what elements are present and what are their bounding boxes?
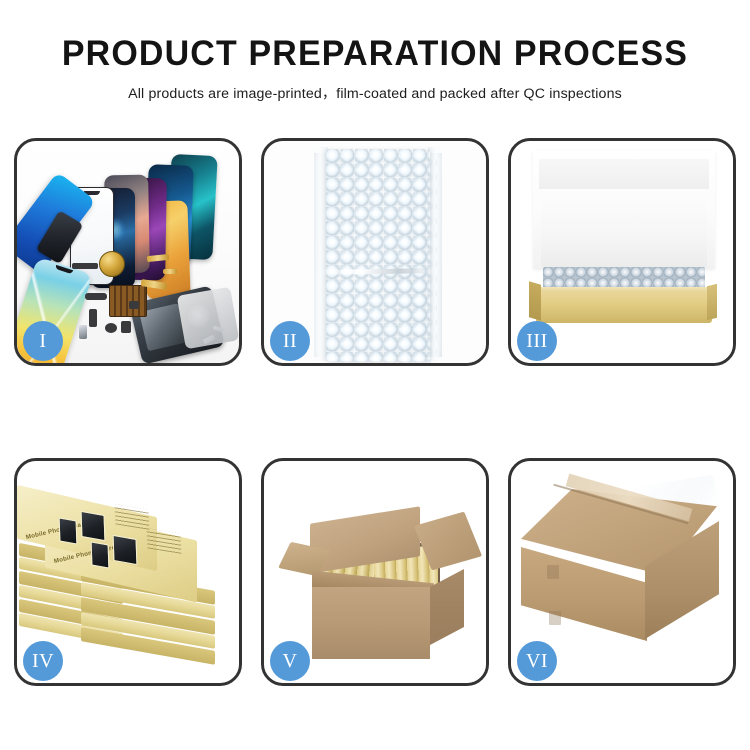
step-badge-6: VI xyxy=(517,641,557,681)
box-screen-thumb-upper-b xyxy=(81,511,106,541)
bubble-wrap-layer-back xyxy=(333,156,437,363)
battery-strip xyxy=(72,263,98,269)
panel-inner-box[interactable]: III xyxy=(508,138,736,366)
header: PRODUCT PREPARATION PROCESS All products… xyxy=(0,0,750,103)
sim-tray-part xyxy=(79,325,87,339)
wireless-charging-coil xyxy=(99,251,125,277)
carton-notch-lower xyxy=(549,611,561,625)
step-badge-5: V xyxy=(270,641,310,681)
small-part-a xyxy=(85,293,107,300)
speaker-part xyxy=(105,323,117,333)
box-screen-thumb-lower-b xyxy=(113,535,138,565)
panel-sealed-carton[interactable]: VI xyxy=(508,458,736,686)
carton-notch-upper xyxy=(547,565,559,579)
carton-front-face xyxy=(312,587,430,659)
foam-sheet xyxy=(541,189,707,267)
box-left-side xyxy=(529,281,541,320)
step-badge-4: IV xyxy=(23,641,63,681)
page-subtitle: All products are image-printed，film-coat… xyxy=(0,83,750,103)
panel-phone-parts[interactable]: I xyxy=(14,138,242,366)
flex-cable-c xyxy=(163,269,177,274)
box-right-side xyxy=(707,284,717,320)
box-screen-thumb-upper-a xyxy=(59,517,78,544)
repair-tools xyxy=(177,287,239,350)
step-badge-1: I xyxy=(23,321,63,361)
box-front-cream xyxy=(536,291,712,323)
step-badge-3: III xyxy=(517,321,557,361)
panel-open-carton[interactable]: V xyxy=(261,458,489,686)
process-grid: I II III xyxy=(0,136,750,696)
page-title: PRODUCT PREPARATION PROCESS xyxy=(11,34,739,74)
screw-grid-component xyxy=(109,285,147,317)
panel-bubble-wrap[interactable]: II xyxy=(261,138,489,366)
step-badge-2: II xyxy=(270,321,310,361)
box-screen-thumb-lower-a xyxy=(91,541,110,568)
panel-retail-box-stack[interactable]: Mobile Phone Spare Parts Mobile Phone Sp… xyxy=(14,458,242,686)
box-lid-back-edge xyxy=(539,159,709,189)
camera-part xyxy=(121,321,131,333)
small-part-c xyxy=(129,301,139,309)
small-part-b xyxy=(89,309,97,327)
